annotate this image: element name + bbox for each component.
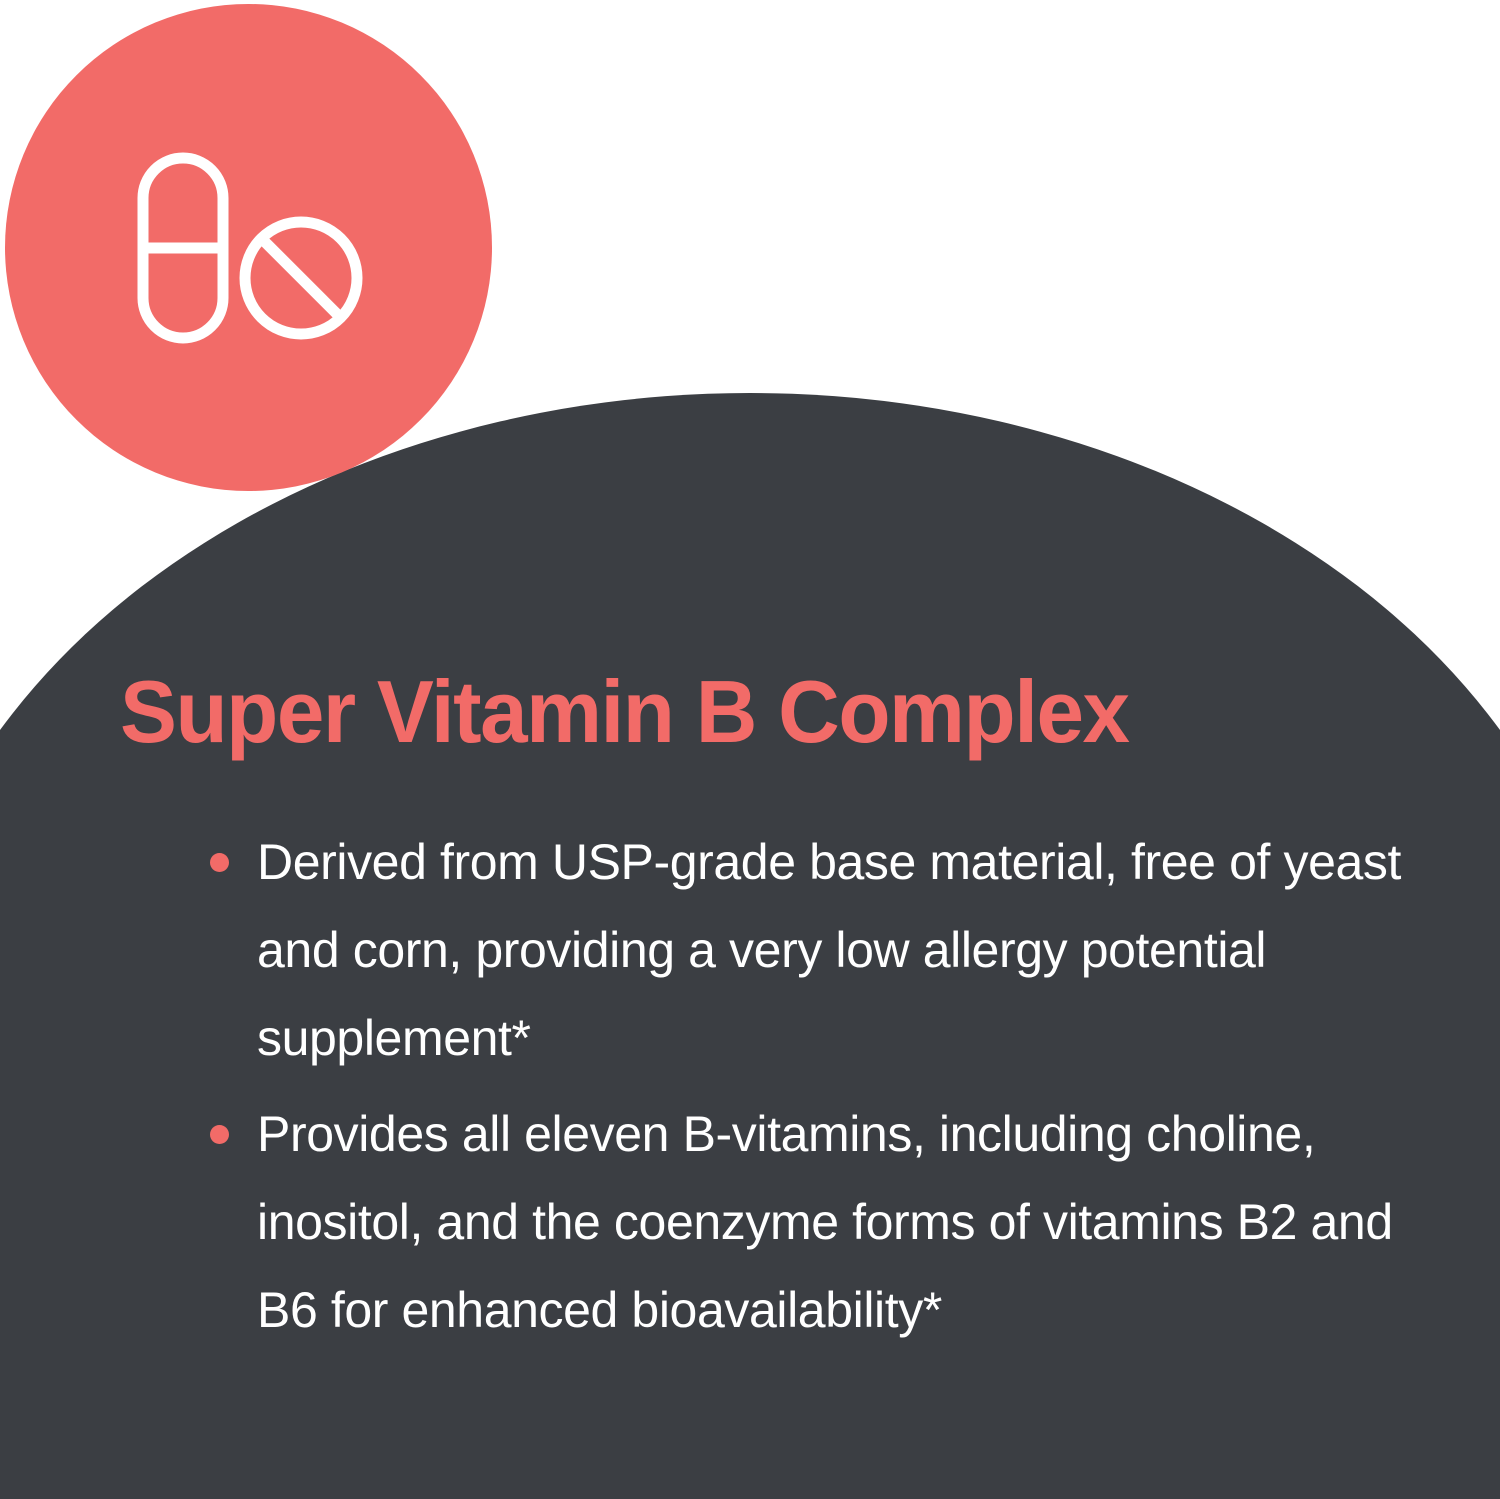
bullet-dot-icon (210, 1125, 229, 1144)
page-title: Super Vitamin B Complex (120, 668, 1128, 756)
feature-text: Derived from USP-grade base material, fr… (257, 818, 1435, 1082)
bullet-dot-icon (210, 853, 229, 872)
product-feature-card: Super Vitamin B Complex Derived from USP… (0, 0, 1500, 1499)
feature-text: Provides all eleven B-vitamins, includin… (257, 1090, 1435, 1354)
list-item: Derived from USP-grade base material, fr… (205, 818, 1435, 1082)
feature-list: Derived from USP-grade base material, fr… (205, 818, 1435, 1362)
content-area: Super Vitamin B Complex Derived from USP… (0, 0, 1500, 1499)
list-item: Provides all eleven B-vitamins, includin… (205, 1090, 1435, 1354)
